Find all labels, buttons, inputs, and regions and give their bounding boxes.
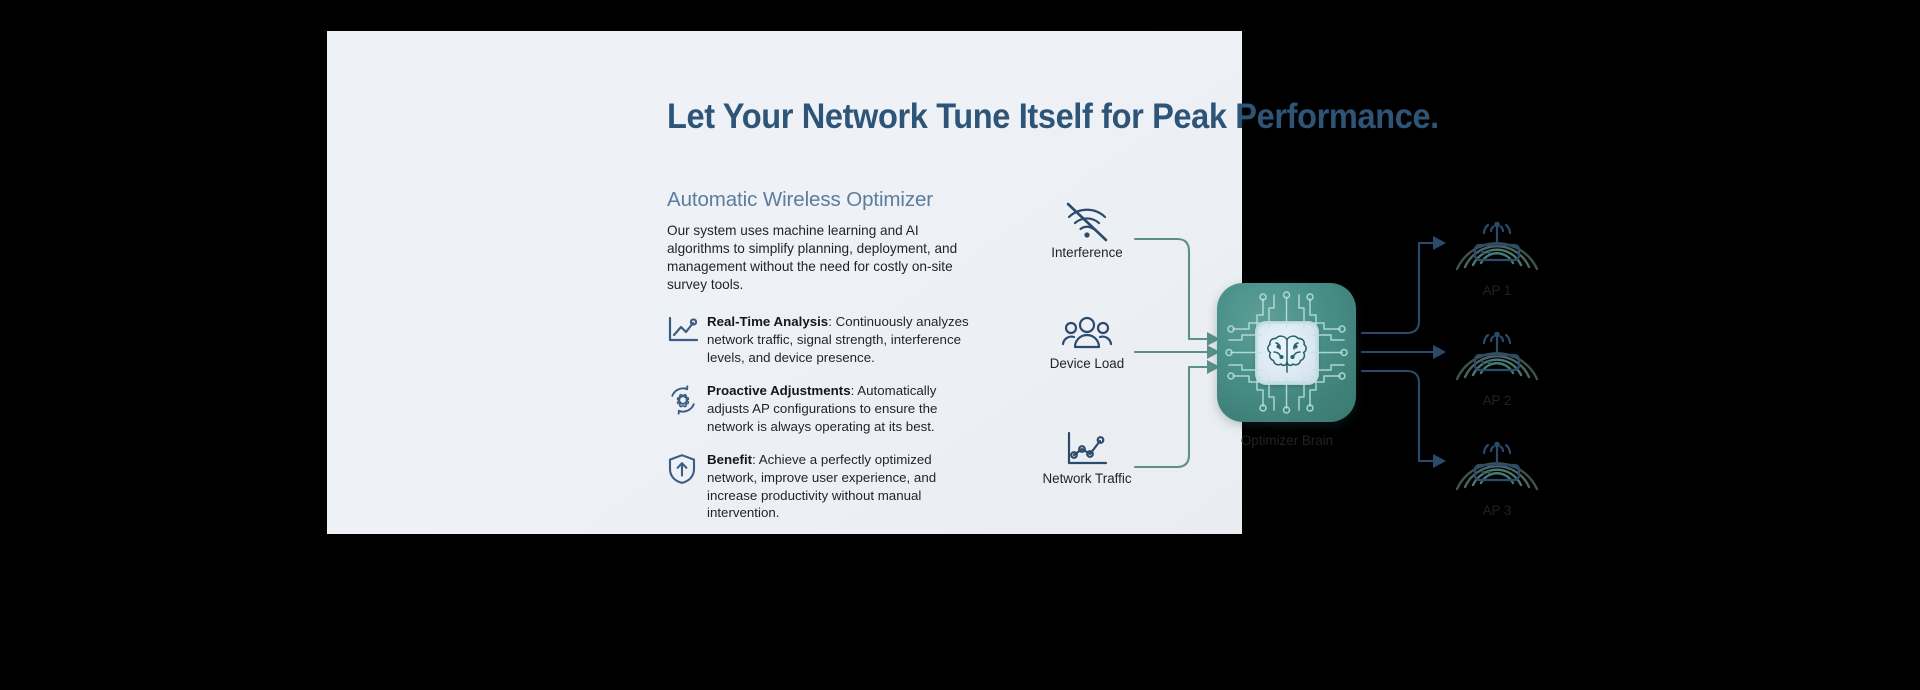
input-node-network-traffic: Network Traffic — [1031, 429, 1143, 486]
output-node-ap-3: AP 3 — [1435, 403, 1559, 518]
input-node-label: Device Load — [1039, 356, 1135, 371]
lead-paragraph: Our system uses machine learning and AI … — [667, 222, 979, 295]
gear-refresh-icon — [667, 382, 707, 416]
center-node-label: Optimizer Brain — [1172, 433, 1402, 448]
list-item-term: Benefit — [707, 452, 752, 467]
content-card: Let Your Network Tune Itself for Peak Pe… — [327, 31, 1242, 534]
cpu-brain-icon — [1217, 283, 1356, 422]
wireless-router-icon — [1435, 293, 1559, 397]
list-item-text: Real-Time Analysis: Continuously analyze… — [707, 313, 982, 366]
list-item-text: Proactive Adjustments: Automatically adj… — [707, 382, 982, 435]
optimizer-flow-diagram: Interference D — [1017, 171, 1562, 551]
list-item: Proactive Adjustments: Automatically adj… — [667, 382, 987, 435]
list-item-term: Proactive Adjustments — [707, 383, 851, 398]
left-column: Automatic Wireless Optimizer Our system … — [667, 188, 987, 538]
shield-up-arrow-icon — [667, 451, 707, 485]
section-subheading: Automatic Wireless Optimizer — [667, 188, 987, 213]
list-item: Benefit: Achieve a perfectly optimized n… — [667, 451, 987, 522]
list-item-text: Benefit: Achieve a perfectly optimized n… — [707, 451, 982, 522]
screenshot-stage: Let Your Network Tune Itself for Peak Pe… — [0, 0, 1920, 690]
wireless-router-icon — [1435, 403, 1559, 507]
list-item-separator: : — [828, 314, 835, 329]
line-chart-icon — [667, 313, 707, 345]
input-node-label: Network Traffic — [1031, 471, 1143, 486]
output-node-ap-2: AP 2 — [1435, 293, 1559, 408]
users-group-icon — [1039, 314, 1135, 354]
input-node-interference: Interference — [1039, 201, 1135, 260]
list-item: Real-Time Analysis: Continuously analyze… — [667, 313, 987, 366]
output-node-ap-1: AP 1 — [1435, 183, 1559, 298]
input-node-label: Interference — [1039, 245, 1135, 260]
line-chart-points-icon — [1031, 429, 1143, 469]
wireless-router-icon — [1435, 183, 1559, 287]
list-item-separator: : — [752, 452, 759, 467]
page-title: Let Your Network Tune Itself for Peak Pe… — [667, 97, 1485, 137]
list-item-term: Real-Time Analysis — [707, 314, 828, 329]
input-node-device-load: Device Load — [1039, 314, 1135, 371]
feature-list: Real-Time Analysis: Continuously analyze… — [667, 313, 987, 522]
wifi-off-icon — [1039, 201, 1135, 243]
